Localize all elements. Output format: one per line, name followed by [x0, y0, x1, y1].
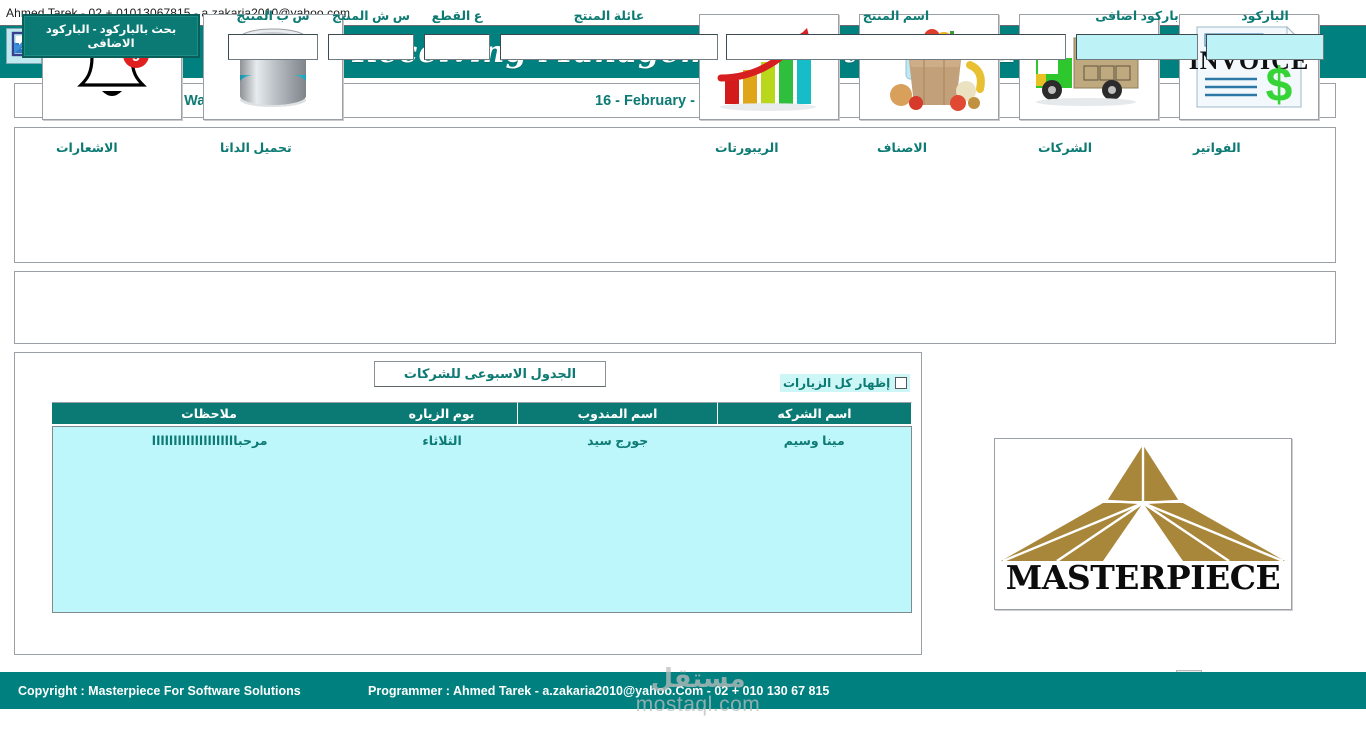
logo-text: MASTERPIECE: [995, 558, 1291, 597]
bar-chart-icon: [700, 15, 838, 119]
field-label-product-family: عائلة المنتج: [500, 8, 718, 23]
footer-programmer: Programmer : Ahmed Tarek - a.zakaria2010…: [368, 684, 829, 698]
column-header-notes[interactable]: ملاحظات: [52, 402, 366, 424]
extra-barcode-input[interactable]: [1076, 34, 1198, 60]
grocery-bag-icon: [860, 15, 998, 119]
field-label-product-name: اسم المنتج: [726, 8, 1066, 23]
field-label-product-sell: س ش المنتج: [328, 8, 414, 23]
tile-caption-notifications: الاشعارات: [52, 140, 122, 155]
field-label-barcode: الباركود: [1206, 8, 1324, 23]
tile-items[interactable]: [859, 14, 999, 120]
field-label-piece-count: ع القطع: [424, 8, 490, 23]
tile-invoices[interactable]: INVOICE $: [1179, 14, 1319, 120]
tile-caption-companies: الشركات: [1034, 140, 1096, 155]
tile-companies[interactable]: LOGISTICS: [1019, 14, 1159, 120]
tile-caption-items: الاصناف: [873, 140, 931, 155]
dollar-sign-icon: $: [1266, 59, 1293, 112]
cell-rep: جورج سيد: [518, 427, 718, 453]
column-header-day[interactable]: يوم الزياره: [366, 402, 518, 424]
product-name-input[interactable]: [726, 34, 1066, 60]
piece-count-input[interactable]: [424, 34, 490, 60]
column-header-company[interactable]: اسم الشركه: [718, 402, 912, 424]
product-buy-input[interactable]: [228, 34, 318, 60]
tile-reports[interactable]: [699, 14, 839, 120]
company-logo: MASTERPIECE: [994, 438, 1292, 610]
cell-company: مينا وسيم: [717, 427, 911, 453]
below-footer-area: [0, 709, 1366, 741]
cell-day: الثلاثاء: [366, 427, 518, 453]
barcode-search-button[interactable]: بحث بالباركود - الباركود الاضافى: [22, 14, 200, 58]
shortcut-tiles-panel: [14, 127, 1336, 263]
footer-bar: Copyright : Masterpiece For Software Sol…: [0, 672, 1366, 709]
cell-notes: مرحباااااااااااااااااااا: [53, 427, 366, 453]
masterpiece-pyramid-icon: [995, 439, 1291, 567]
truck-icon: LOGISTICS: [1020, 15, 1158, 119]
invoice-icon: INVOICE $: [1180, 15, 1318, 119]
database-icon: [204, 15, 342, 119]
weekly-schedule-button[interactable]: الجدول الاسبوعى للشركات: [374, 361, 606, 387]
tile-caption-invoices: الفواتير: [1189, 140, 1245, 155]
product-sell-input[interactable]: [328, 34, 414, 60]
show-all-visits-label: إظهار كل الزيارات: [783, 376, 890, 390]
tile-caption-load-data: تحميل الداتا: [216, 140, 296, 155]
show-all-visits-checkbox[interactable]: إظهار كل الزيارات: [780, 374, 910, 392]
tile-caption-reports: الريبورتات: [711, 140, 783, 155]
barcode-input[interactable]: [1206, 34, 1324, 60]
schedule-table-header: اسم الشركه اسم المندوب يوم الزياره ملاحظ…: [52, 402, 912, 424]
column-header-rep[interactable]: اسم المندوب: [518, 402, 718, 424]
field-label-extra-barcode: باركود اضافى: [1076, 8, 1198, 23]
field-label-product-buy: س ب المنتج: [228, 8, 318, 23]
footer-copyright: Copyright : Masterpiece For Software Sol…: [18, 684, 301, 698]
schedule-table-body[interactable]: مينا وسيم جورج سيد الثلاثاء مرحباااااااا…: [52, 426, 912, 613]
checkbox-box-icon[interactable]: [895, 377, 907, 389]
tile-load-data[interactable]: [203, 14, 343, 120]
product-filter-panel: [14, 271, 1336, 344]
product-family-input[interactable]: [500, 34, 718, 60]
table-row[interactable]: مينا وسيم جورج سيد الثلاثاء مرحباااااااا…: [53, 427, 911, 453]
